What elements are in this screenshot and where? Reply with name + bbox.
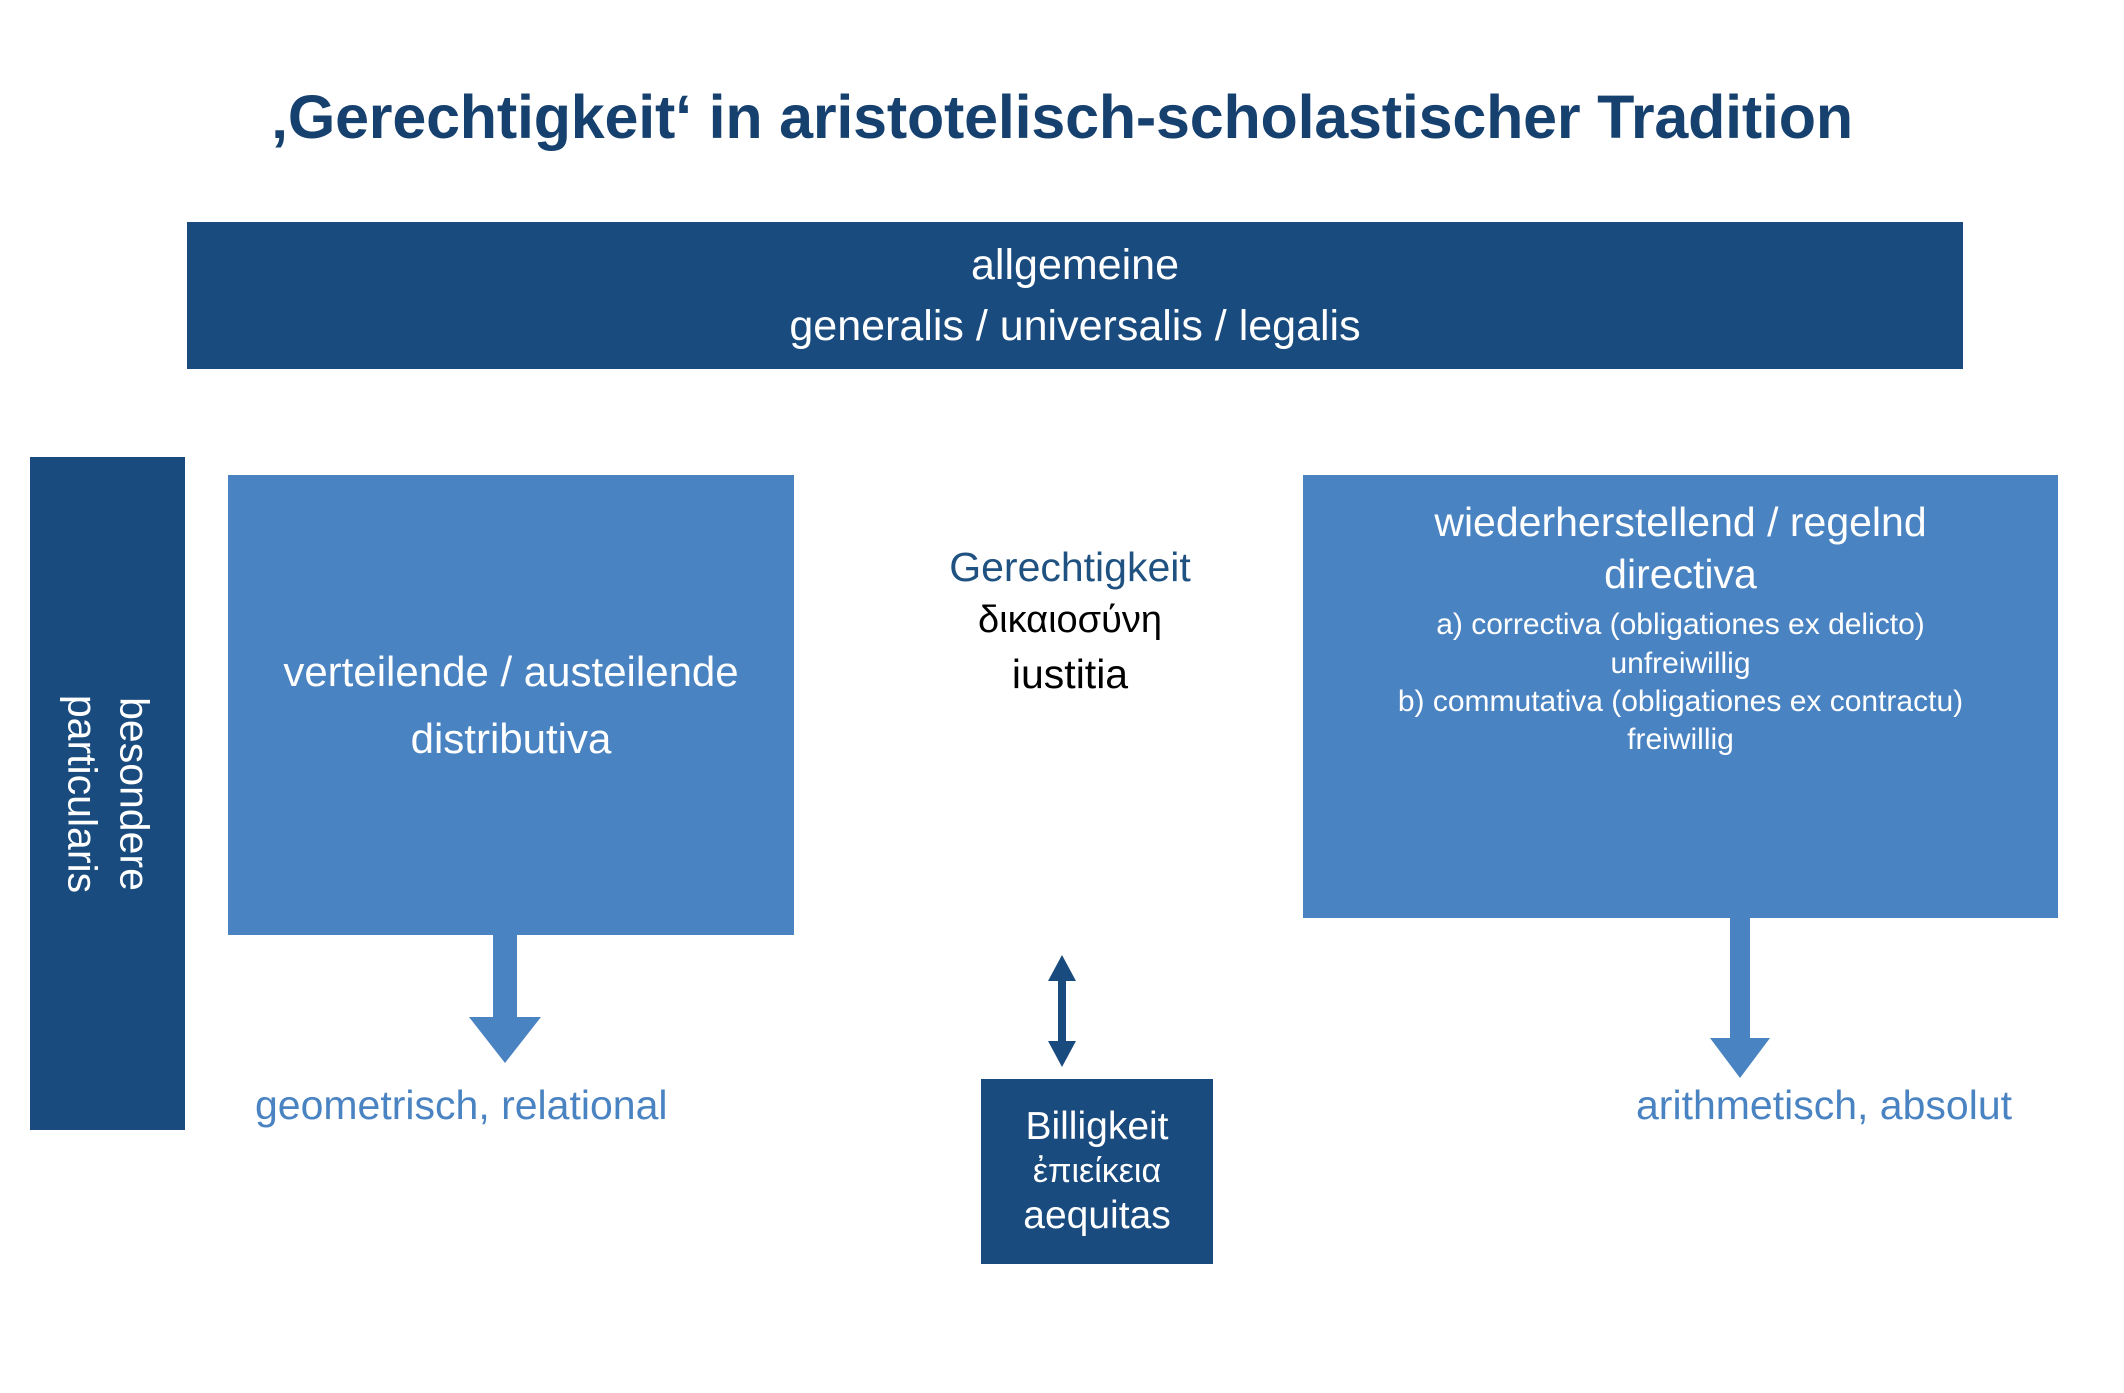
- directiva-item-b-note: freiwillig: [1627, 721, 1734, 759]
- double-headed-vertical-arrow-icon: [1040, 955, 1084, 1067]
- down-arrow-icon: [1700, 905, 1780, 1080]
- directiva-item-b: b) commutativa (obligationes ex contract…: [1398, 683, 1963, 721]
- billigkeit-latin: aequitas: [1023, 1192, 1170, 1240]
- directiva-heading2: directiva: [1604, 549, 1757, 601]
- distributiva-line2: distributiva: [411, 713, 612, 764]
- distributiva-box: verteilende / austeilende distributiva: [228, 475, 794, 935]
- general-justice-box: allgemeine generalis / universalis / leg…: [187, 222, 1963, 369]
- particular-sidebar-line2: particularis: [55, 694, 107, 892]
- slide-canvas: ‚Gerechtigkeit‘ in aristotelisch-scholas…: [0, 0, 2124, 1393]
- billigkeit-box: Billigkeit ἐπιείκεια aequitas: [981, 1079, 1213, 1264]
- billigkeit-greek: ἐπιείκεια: [1033, 1151, 1161, 1192]
- central-term-greek: δικαιοσύνη: [870, 595, 1270, 646]
- particular-sidebar-line1: besondere: [108, 694, 160, 892]
- general-box-line1: allgemeine: [971, 240, 1179, 291]
- page-title: ‚Gerechtigkeit‘ in aristotelisch-scholas…: [0, 82, 2124, 152]
- particular-justice-sidebar: besondere particularis: [30, 457, 185, 1130]
- distributiva-line1: verteilende / austeilende: [283, 646, 738, 697]
- caption-arithmetisch: arithmetisch, absolut: [1636, 1082, 2012, 1129]
- central-terms-group: Gerechtigkeit δικαιοσύνη iustitia: [870, 540, 1270, 702]
- central-term-latin: iustitia: [870, 647, 1270, 702]
- general-box-line2: generalis / universalis / legalis: [789, 301, 1360, 352]
- particular-sidebar-text: besondere particularis: [55, 694, 160, 892]
- directiva-item-a-note: unfreiwillig: [1610, 645, 1750, 683]
- caption-geometrisch: geometrisch, relational: [255, 1082, 667, 1129]
- directiva-box: wiederherstellend / regelnd directiva a)…: [1303, 475, 2058, 918]
- directiva-item-a: a) correctiva (obligationes ex delicto): [1436, 606, 1925, 644]
- central-term-german: Gerechtigkeit: [870, 540, 1270, 595]
- down-arrow-icon: [455, 920, 555, 1065]
- billigkeit-german: Billigkeit: [1025, 1103, 1168, 1151]
- directiva-heading1: wiederherstellend / regelnd: [1434, 497, 1926, 549]
